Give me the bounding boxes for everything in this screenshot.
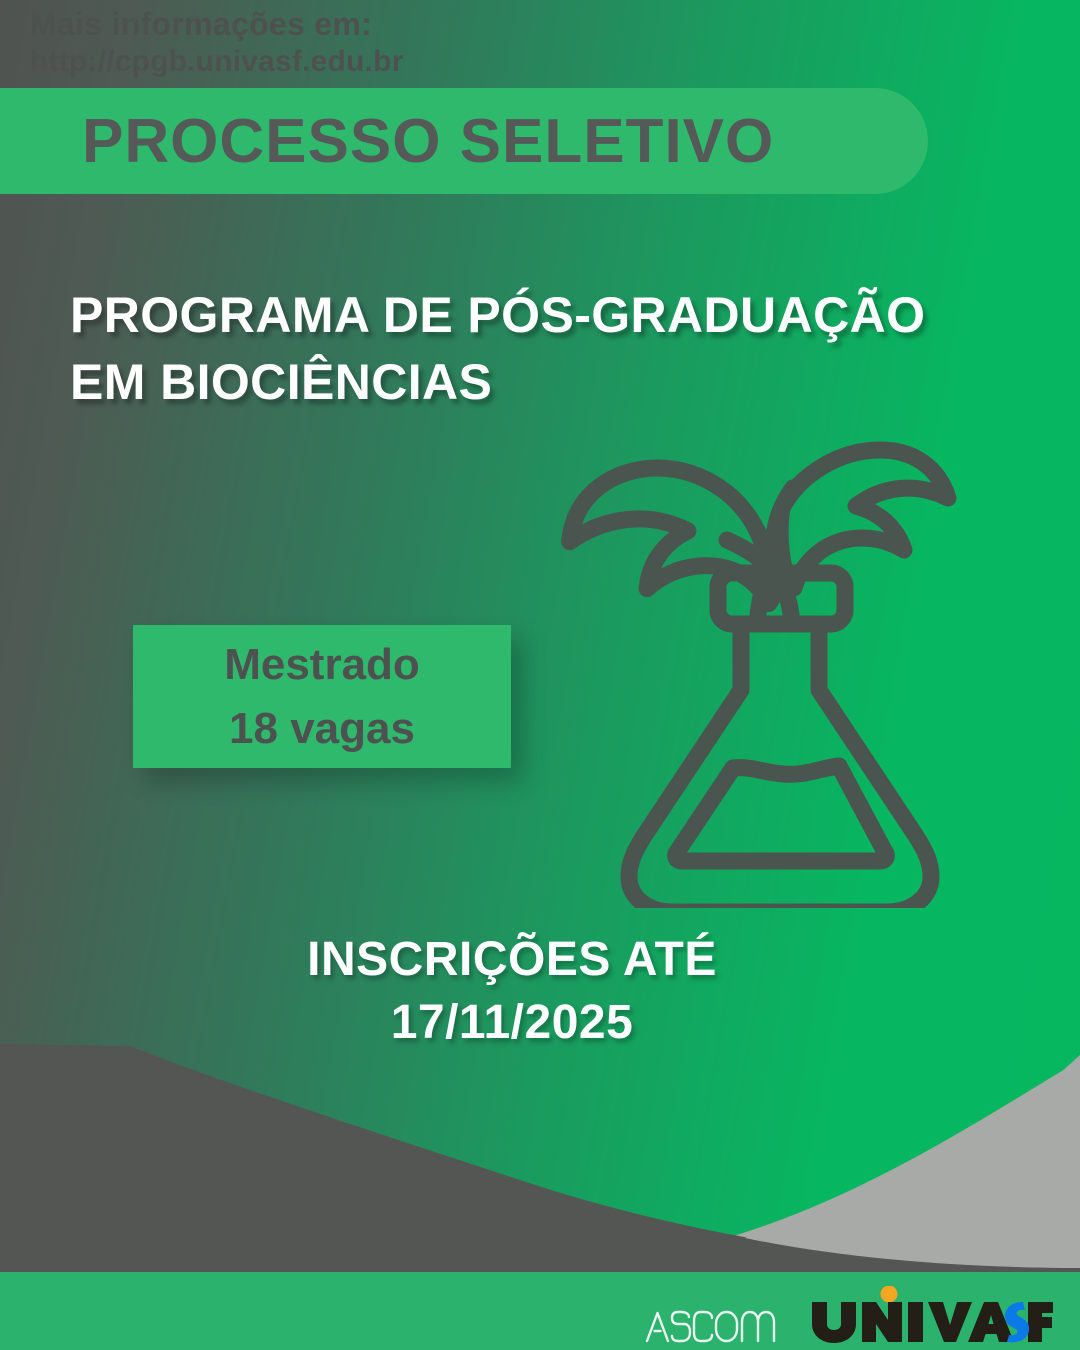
univasf-orange-dot bbox=[881, 1286, 898, 1303]
top-banner: PROCESSO SELETIVO bbox=[0, 88, 928, 194]
degree-level: Mestrado bbox=[224, 633, 420, 697]
program-title-line2: EM BIOCIÊNCIAS bbox=[70, 349, 1030, 416]
degree-seats: 18 vagas bbox=[229, 697, 415, 761]
footer-contact: Mais informações em: http://cpgb.univasf… bbox=[30, 6, 404, 79]
ascom-logo bbox=[645, 1308, 785, 1344]
degree-badge: Mestrado 18 vagas bbox=[133, 625, 511, 768]
banner-title: PROCESSO SELETIVO bbox=[82, 106, 774, 177]
more-info-label: Mais informações em: bbox=[30, 6, 404, 44]
website-url[interactable]: http://cpgb.univasf.edu.br bbox=[30, 44, 404, 79]
page-title: PROGRAMA DE PÓS-GRADUAÇÃO EM BIOCIÊNCIAS bbox=[70, 282, 1030, 416]
flask-with-plant-icon bbox=[555, 418, 965, 908]
poster-canvas: PROCESSO SELETIVO PROGRAMA DE PÓS-GRADUA… bbox=[0, 0, 1080, 1350]
deadline-label: INSCRIÇÕES ATÉ bbox=[307, 933, 717, 986]
univasf-logo bbox=[808, 1286, 1053, 1344]
decorative-waves bbox=[0, 1000, 1080, 1275]
program-title-line1: PROGRAMA DE PÓS-GRADUAÇÃO bbox=[70, 287, 925, 343]
